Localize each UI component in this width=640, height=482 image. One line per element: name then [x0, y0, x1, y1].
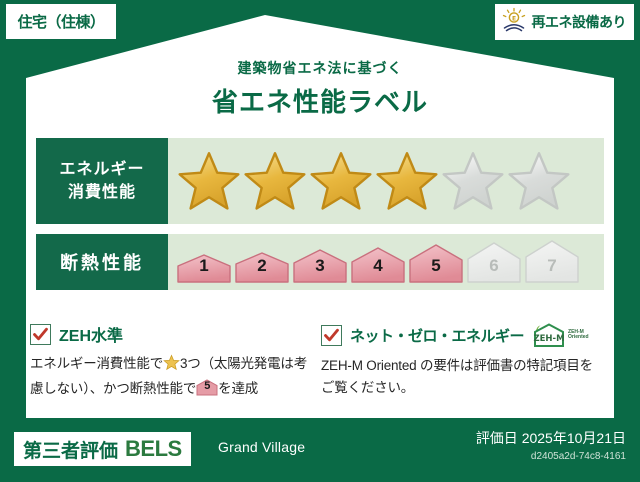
house-step-filled: 4	[350, 246, 406, 283]
house-step-empty: 6	[466, 241, 522, 283]
energy-label-line2: 消費性能	[68, 181, 136, 204]
energy-label-line1: エネルギー	[59, 158, 144, 181]
house-step-number: 3	[292, 256, 348, 276]
house-step-number: 6	[466, 256, 522, 276]
house-step-filled: 1	[176, 253, 232, 283]
energy-performance-row: エネルギー 消費性能	[36, 138, 604, 224]
house-rating-scale: 1234567	[176, 239, 580, 286]
label-footer: 第三者評価 BELS Grand Village 評価日 2025年10月21日…	[0, 420, 640, 482]
label-title-block: 建築物省エネ法に基づく 省エネ性能ラベル	[0, 58, 640, 119]
bels-evaluation-en: BELS	[125, 436, 182, 462]
house-step-number: 1	[176, 256, 232, 276]
insulation-performance-value: 1234567	[168, 234, 604, 290]
svg-text:ZEH-M: ZEH-M	[533, 334, 564, 344]
checkbox-checked-icon	[321, 325, 342, 346]
house-step-filled: 5	[408, 243, 464, 283]
bels-evaluation-jp: 第三者評価	[23, 436, 118, 463]
house-step-filled: 2	[234, 251, 290, 283]
star-filled-icon	[308, 149, 374, 213]
criterion-zeh-standard: ZEH水準 エネルギー消費性能で3つ（太陽光発電は考慮しない）、かつ断熱性能で5…	[30, 322, 321, 400]
inline-star-icon	[163, 354, 180, 378]
criterion-net-zero-energy: ネット・ゼロ・エネルギー ZEH-M ZEH-M Oriented ZEH-M …	[321, 322, 612, 400]
bels-evaluation-box: 第三者評価 BELS	[14, 432, 191, 466]
svg-text:E: E	[511, 15, 515, 22]
insulation-label: 断熱性能	[60, 249, 144, 275]
zeh-body-part1: エネルギー消費性能で	[30, 356, 163, 371]
building-type-tag: 住宅（住棟）	[6, 4, 116, 39]
zeh-body-part3: を達成	[218, 381, 258, 396]
insulation-performance-row: 断熱性能 1234567	[36, 234, 604, 290]
house-step-filled: 3	[292, 248, 348, 283]
zeh-m-logo: ZEH-M ZEH-M Oriented	[532, 322, 589, 348]
star-filled-icon	[242, 149, 308, 213]
star-filled-icon	[374, 149, 440, 213]
title-main: 省エネ性能ラベル	[0, 82, 640, 119]
zeh-standard-body: エネルギー消費性能で3つ（太陽光発電は考慮しない）、かつ断熱性能で5を達成	[30, 353, 307, 400]
star-empty-icon	[440, 149, 506, 213]
criteria-section: ZEH水準 エネルギー消費性能で3つ（太陽光発電は考慮しない）、かつ断熱性能で5…	[30, 322, 612, 400]
evaluation-date-block: 評価日 2025年10月21日 d2405a2d-74c8-4161	[476, 428, 626, 462]
solar-sun-icon: E	[501, 7, 527, 38]
document-id: d2405a2d-74c8-4161	[476, 451, 626, 462]
energy-performance-label: 住宅（住棟） E 再エネ設備あり 建築物省エネ法に基づく 省エネ性能ラベ	[0, 0, 640, 482]
rating-rows: エネルギー 消費性能 断熱性能 1234567	[36, 138, 604, 300]
evaluation-date: 評価日 2025年10月21日	[476, 428, 626, 448]
house-step-number: 5	[408, 256, 464, 276]
inline-house-value: 5	[196, 378, 218, 396]
energy-performance-value	[168, 138, 604, 224]
title-subtitle: 建築物省エネ法に基づく	[0, 58, 640, 78]
star-filled-icon	[176, 149, 242, 213]
house-step-number: 4	[350, 256, 406, 276]
net-zero-energy-header: ネット・ゼロ・エネルギー ZEH-M ZEH-M Oriented	[321, 322, 598, 348]
checkbox-checked-icon	[30, 324, 51, 345]
renewable-energy-badge: E 再エネ設備あり	[495, 4, 635, 40]
house-step-empty: 7	[524, 239, 580, 283]
zeh-standard-header: ZEH水準	[30, 322, 307, 346]
renewable-badge-label: 再エネ設備あり	[532, 12, 627, 32]
zeh-standard-title: ZEH水準	[59, 322, 123, 346]
zeh-m-logo-sub2: Oriented	[568, 335, 589, 340]
star-empty-icon	[506, 149, 572, 213]
house-step-number: 2	[234, 256, 290, 276]
star-rating	[176, 149, 572, 213]
building-name: Grand Village	[218, 439, 305, 455]
house-step-number: 7	[524, 256, 580, 276]
insulation-performance-label-box: 断熱性能	[36, 234, 168, 290]
net-zero-energy-body: ZEH-M Oriented の要件は評価書の特記項目をご覧ください。	[321, 355, 598, 399]
inline-house-icon: 5	[196, 379, 218, 396]
energy-performance-label-box: エネルギー 消費性能	[36, 138, 168, 224]
net-zero-energy-title: ネット・ゼロ・エネルギー	[350, 325, 524, 346]
building-type-label: 住宅（住棟）	[17, 11, 104, 32]
